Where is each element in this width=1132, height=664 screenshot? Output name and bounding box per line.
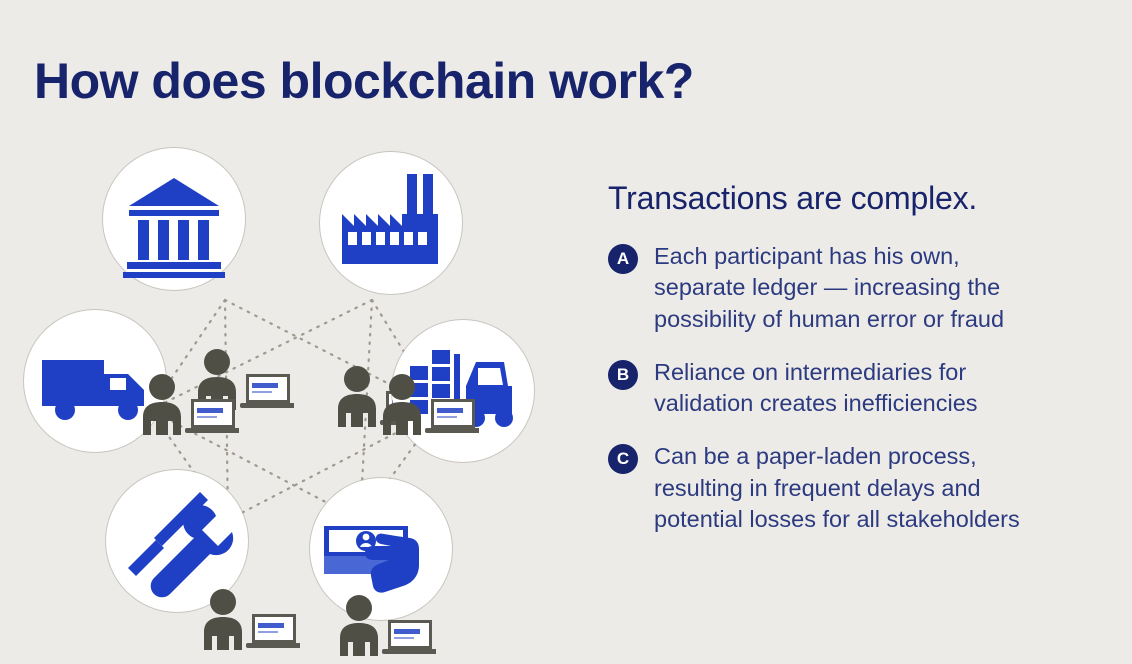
actor-with-laptop-truck[interactable] bbox=[135, 373, 239, 435]
network-diagram bbox=[0, 120, 580, 660]
bullet-badge-c: C bbox=[608, 444, 638, 474]
bullet-text-c: Can be a paper-laden process, resulting … bbox=[654, 441, 1020, 535]
actor-with-laptop-money[interactable] bbox=[332, 594, 436, 656]
bank-icon bbox=[103, 148, 245, 290]
factory-icon bbox=[320, 152, 462, 294]
infographic-page: How does blockchain work? bbox=[0, 0, 1132, 664]
panel-heading: Transactions are complex. bbox=[608, 180, 1120, 217]
node-factory[interactable] bbox=[320, 152, 462, 294]
actor-with-laptop-tools[interactable] bbox=[196, 588, 300, 650]
explanation-panel: Transactions are complex. A Each partici… bbox=[608, 180, 1120, 557]
bullet-item-c: C Can be a paper-laden process, resultin… bbox=[608, 441, 1120, 535]
bullet-item-a: A Each participant has his own, separate… bbox=[608, 241, 1120, 335]
bullet-text-b: Reliance on intermediaries for validatio… bbox=[654, 357, 978, 420]
actor-with-laptop-forklift[interactable] bbox=[375, 373, 479, 435]
bullet-badge-b: B bbox=[608, 360, 638, 390]
node-bank[interactable] bbox=[103, 148, 245, 290]
page-title: How does blockchain work? bbox=[34, 54, 694, 109]
bullet-text-a: Each participant has his own, separate l… bbox=[654, 241, 1004, 335]
bullet-badge-a: A bbox=[608, 244, 638, 274]
bullet-item-b: B Reliance on intermediaries for validat… bbox=[608, 357, 1120, 420]
